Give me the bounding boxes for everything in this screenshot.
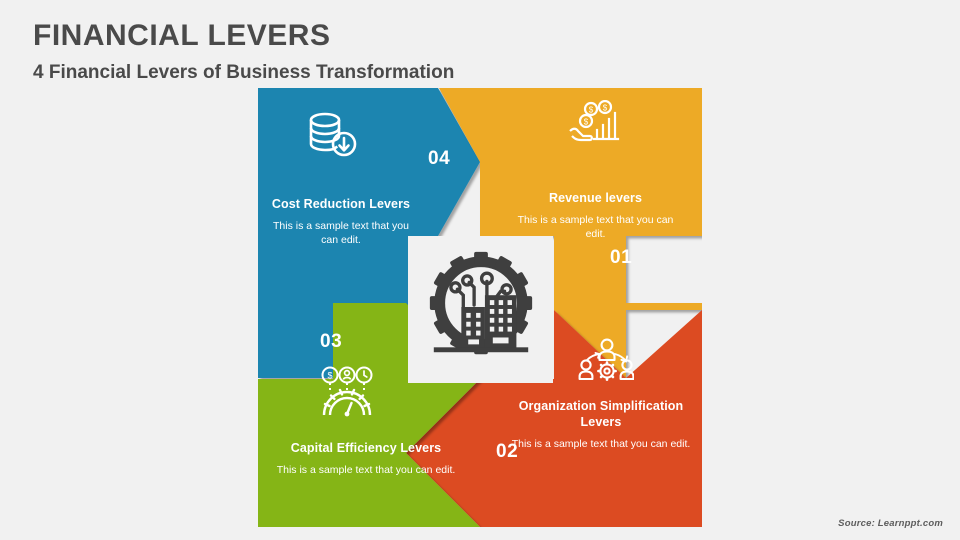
svg-text:$: $: [603, 104, 608, 113]
step-number-03: 03: [320, 331, 342, 353]
org-chart-gear-icon: [578, 338, 634, 395]
segment-text-revenue: Revenue levers This is a sample text tha…: [508, 190, 683, 241]
segment-heading-capital-efficiency: Capital Efficiency Levers: [276, 440, 456, 456]
gauge-efficiency-icon: $: [318, 366, 376, 423]
segment-body-capital-efficiency: This is a sample text that you can edit.: [276, 463, 456, 477]
page-subtitle: 4 Financial Levers of Business Transform…: [33, 62, 454, 84]
hand-coins-growth-icon: $ $ $: [566, 100, 624, 155]
financial-levers-diagram: $ $ $ $: [258, 88, 702, 527]
segment-heading-organization: Organization Simplification Levers: [508, 398, 694, 430]
segment-text-cost-reduction: Cost Reduction Levers This is a sample t…: [266, 196, 416, 247]
svg-text:$: $: [327, 371, 332, 381]
segment-body-revenue: This is a sample text that you can edit.: [508, 213, 683, 241]
segment-heading-cost-reduction: Cost Reduction Levers: [266, 196, 416, 212]
step-number-04: 04: [428, 148, 450, 170]
svg-text:$: $: [589, 106, 594, 115]
center-tile: [408, 236, 553, 383]
segment-body-cost-reduction: This is a sample text that you can edit.: [266, 219, 416, 247]
segment-text-capital-efficiency: Capital Efficiency Levers This is a samp…: [276, 440, 456, 477]
slide-canvas: FINANCIAL LEVERS 4 Financial Levers of B…: [0, 0, 960, 540]
coin-stack-down-arrow-icon: [304, 110, 360, 167]
segment-body-organization: This is a sample text that you can edit.: [508, 437, 694, 451]
gear-buildings-icon: [422, 248, 540, 371]
page-title: FINANCIAL LEVERS: [33, 19, 330, 53]
segment-text-organization: Organization Simplification Levers This …: [508, 398, 694, 451]
segment-heading-revenue: Revenue levers: [508, 190, 683, 206]
step-number-01: 01: [610, 247, 632, 269]
source-credit: Source: Learnppt.com: [838, 518, 943, 529]
svg-text:$: $: [584, 118, 589, 127]
